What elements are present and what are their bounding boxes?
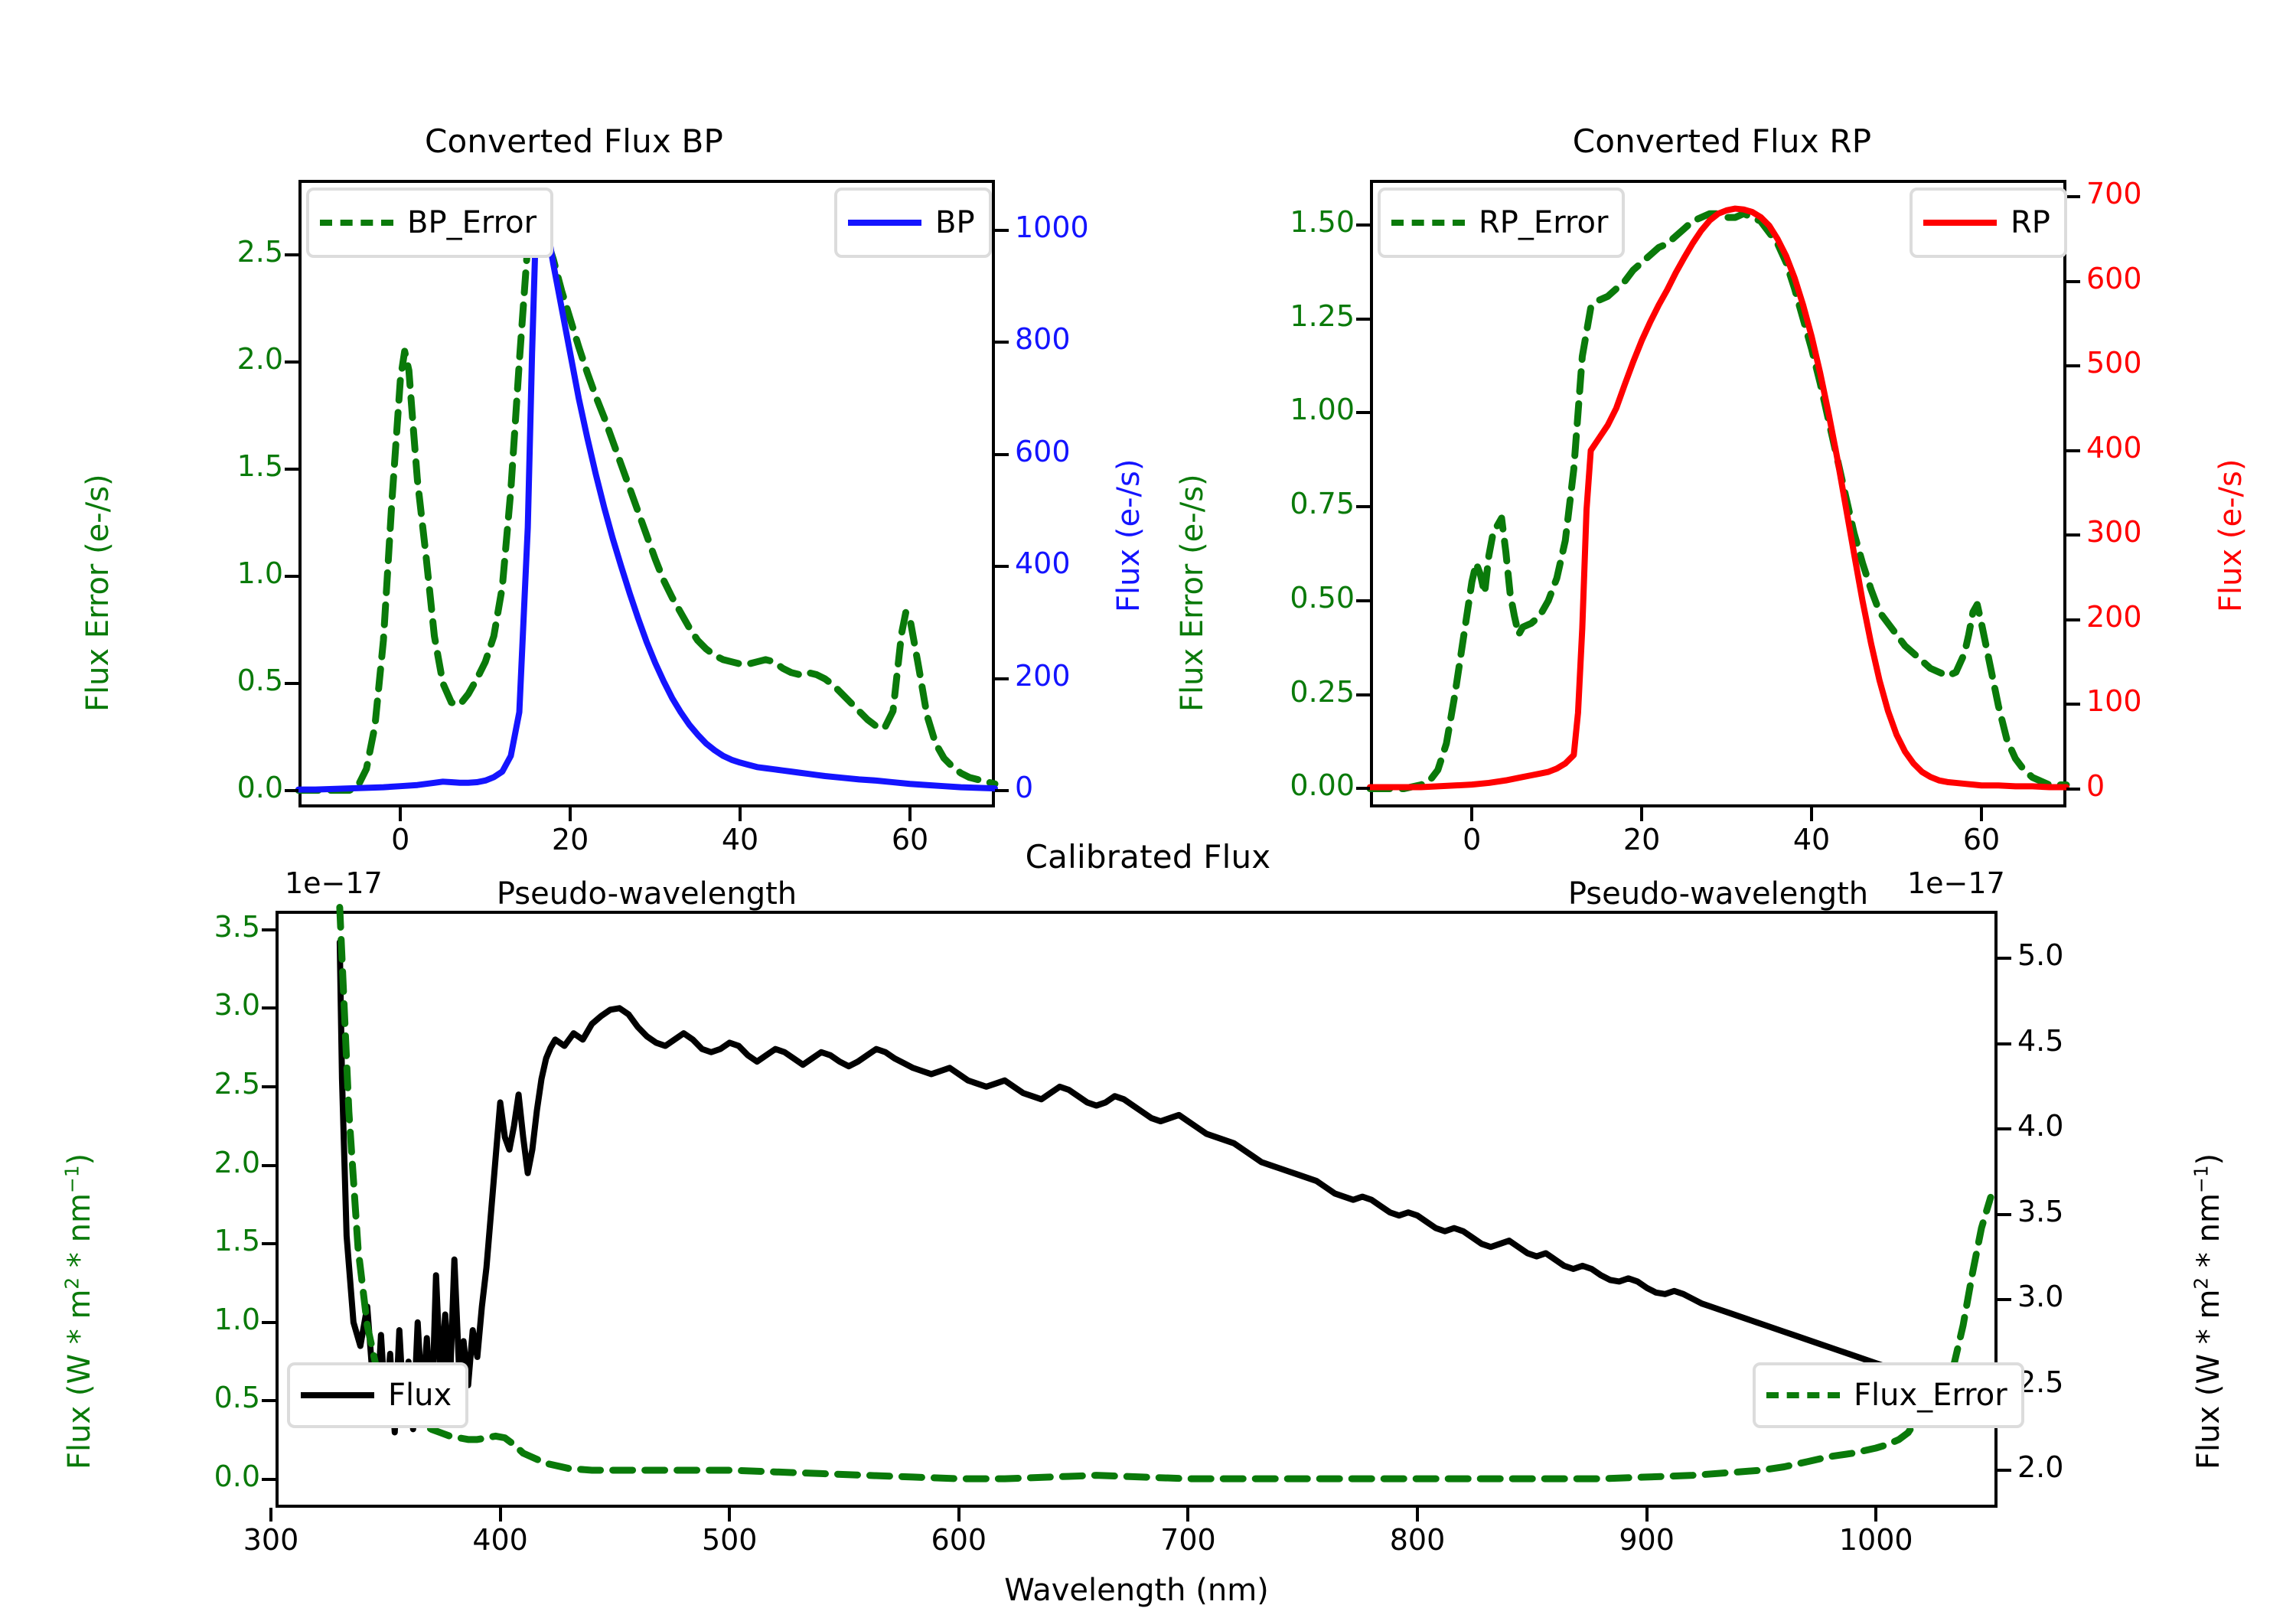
tick-mark (1416, 1508, 1419, 1522)
tick-label: 0.00 (1179, 768, 1355, 802)
tick-mark (262, 1242, 276, 1245)
tick-label: 4.0 (2017, 1109, 2201, 1143)
tick-mark (262, 928, 276, 931)
tick-mark (2066, 533, 2080, 537)
cal-flux-legend-label: Flux (388, 1378, 452, 1413)
cal-yaxis-left-label: Flux (W * m2 * nm−1) (61, 1153, 97, 1469)
tick-label: 0 (2086, 769, 2270, 803)
tick-label: 0.5 (84, 1381, 260, 1414)
cal-left-label-text: Flux (W * m2 * nm−1) (62, 1153, 97, 1469)
tick-mark (262, 1085, 276, 1088)
tick-mark (285, 682, 298, 685)
series-flux_error (340, 908, 1991, 1479)
tick-mark (1980, 807, 1983, 821)
tick-label: 1000 (1792, 1523, 1960, 1557)
cal-plot-lines (276, 911, 1998, 1508)
tick-mark (1998, 1213, 2011, 1216)
bp-yaxis-right-label: Flux (e-/s) (1111, 459, 1146, 612)
tick-mark (262, 1164, 276, 1167)
tick-mark (285, 789, 298, 792)
tick-mark (1874, 1508, 1877, 1522)
tick-mark (1356, 599, 1370, 602)
cal-left-offset-text: 1e−17 (285, 866, 383, 900)
tick-mark (1356, 318, 1370, 321)
tick-label: 1.5 (84, 1224, 260, 1257)
tick-label: 2.5 (2017, 1365, 2201, 1399)
tick-mark (1998, 1042, 2011, 1045)
tick-label: 600 (875, 1523, 1043, 1557)
tick-mark (1356, 223, 1370, 227)
tick-mark (2066, 280, 2080, 283)
tick-mark (1640, 807, 1643, 821)
cal-yaxis-right-label: Flux (W * m2 * nm−1) (2190, 1153, 2226, 1469)
cal-legend-flux[interactable]: Flux (287, 1362, 468, 1428)
tick-label: 700 (2086, 177, 2270, 210)
tick-label: 100 (2086, 684, 2270, 718)
tick-mark (739, 807, 742, 821)
tick-mark (262, 1399, 276, 1402)
tick-mark (1356, 505, 1370, 508)
tick-mark (1998, 957, 2011, 960)
tick-mark (908, 807, 912, 821)
cal-error-line-swatch (1766, 1392, 1840, 1398)
series-bp (298, 197, 995, 790)
tick-label: 300 (187, 1523, 355, 1557)
tick-mark (957, 1508, 960, 1522)
tick-mark (995, 453, 1009, 456)
tick-mark (995, 677, 1009, 680)
rp-error-legend-label: RP_Error (1479, 205, 1608, 240)
cal-flux-line-swatch (301, 1392, 374, 1398)
tick-label: 0.0 (107, 771, 283, 804)
tick-mark (399, 807, 402, 821)
panel-calibrated-flux: Calibrated Flux 1e−17 1e−17 0.00.51.01.5… (0, 834, 2296, 1607)
rp-error-line-swatch (1391, 220, 1465, 226)
tick-mark (995, 341, 1009, 344)
tick-mark (1998, 1127, 2011, 1130)
cal-right-label-text: Flux (W * m2 * nm−1) (2191, 1153, 2226, 1469)
cal-right-offset-text: 1e−17 (1907, 866, 2005, 900)
tick-label: 400 (416, 1523, 585, 1557)
panel-converted-flux-rp: Converted Flux RP 0.000.250.500.751.001.… (1148, 77, 2296, 842)
tick-label: 600 (2086, 262, 2270, 295)
rp-flux-legend-label: RP (2011, 205, 2050, 240)
bp-flux-line-swatch (848, 220, 921, 226)
cal-error-legend-label: Flux_Error (1854, 1378, 2007, 1413)
tick-label: 2.0 (84, 1146, 260, 1179)
tick-mark (269, 1508, 272, 1522)
tick-label: 5.0 (2017, 938, 2201, 972)
tick-mark (2066, 449, 2080, 452)
tick-label: 500 (645, 1523, 814, 1557)
tick-mark (285, 360, 298, 364)
figure-canvas: Converted Flux BP 0.00.51.01.52.02.5 020… (0, 0, 2296, 1607)
tick-label: 2.5 (84, 1067, 260, 1101)
tick-label: 1.50 (1179, 205, 1355, 239)
bp-error-legend-label: BP_Error (407, 205, 536, 240)
tick-mark (1645, 1508, 1649, 1522)
tick-mark (1998, 1469, 2011, 1472)
tick-label: 3.5 (84, 910, 260, 944)
tick-mark (569, 807, 572, 821)
cal-legend-error[interactable]: Flux_Error (1753, 1362, 2024, 1428)
tick-label: 700 (1104, 1523, 1272, 1557)
tick-mark (1998, 1298, 2011, 1301)
tick-mark (262, 1478, 276, 1481)
tick-label: 3.0 (84, 988, 260, 1022)
tick-mark (1810, 807, 1813, 821)
bp-panel-title: Converted Flux BP (0, 122, 1148, 160)
series-flux (340, 942, 1986, 1432)
tick-label: 2.5 (107, 235, 283, 269)
tick-mark (1356, 787, 1370, 790)
panel-converted-flux-bp: Converted Flux BP 0.00.51.01.52.02.5 020… (0, 77, 1148, 842)
tick-mark (995, 789, 1009, 792)
tick-label: 3.5 (2017, 1195, 2201, 1228)
tick-mark (2066, 788, 2080, 791)
tick-label: 2.0 (107, 342, 283, 376)
series-rp_error (1370, 214, 2066, 788)
bp-legend-flux[interactable]: BP (834, 188, 992, 258)
rp-plot-lines (1370, 180, 2066, 807)
tick-mark (2066, 618, 2080, 621)
rp-legend-error[interactable]: RP_Error (1378, 188, 1625, 258)
tick-label: 1.0 (84, 1303, 260, 1336)
tick-mark (1470, 807, 1473, 821)
tick-label: 0.0 (84, 1460, 260, 1493)
rp-yaxis-right-label: Flux (e-/s) (2213, 459, 2249, 612)
tick-label: 500 (2086, 346, 2270, 380)
cal-xaxis-label: Wavelength (nm) (276, 1573, 1998, 1608)
series-bp_error (298, 207, 995, 790)
tick-mark (728, 1508, 731, 1522)
bp-yaxis-left-label: Flux Error (e-/s) (80, 474, 116, 712)
rp-flux-line-swatch (1923, 220, 1997, 226)
bp-legend-error[interactable]: BP_Error (306, 188, 553, 258)
tick-label: 1.00 (1179, 393, 1355, 426)
tick-mark (285, 575, 298, 578)
rp-panel-title: Converted Flux RP (1148, 122, 2296, 160)
bp-flux-legend-label: BP (935, 205, 975, 240)
tick-mark (262, 1006, 276, 1009)
rp-yaxis-left-label: Flux Error (e-/s) (1175, 474, 1210, 712)
tick-mark (499, 1508, 502, 1522)
tick-label: 0.5 (107, 664, 283, 697)
tick-mark (2066, 195, 2080, 198)
bp-plot-lines (298, 180, 995, 807)
tick-label: 1.25 (1179, 299, 1355, 333)
tick-label: 800 (1333, 1523, 1502, 1557)
tick-mark (285, 253, 298, 256)
tick-label: 2.0 (2017, 1450, 2201, 1484)
bp-error-line-swatch (320, 220, 393, 226)
tick-mark (2066, 364, 2080, 367)
tick-mark (2066, 703, 2080, 706)
tick-mark (262, 1321, 276, 1324)
tick-mark (285, 468, 298, 471)
tick-label: 900 (1563, 1523, 1731, 1557)
tick-label: 1.0 (107, 556, 283, 590)
tick-label: 3.0 (2017, 1280, 2201, 1313)
tick-label: 1.5 (107, 449, 283, 483)
rp-legend-flux[interactable]: RP (1910, 188, 2067, 258)
tick-mark (1356, 693, 1370, 696)
series-rp (1370, 209, 2066, 788)
tick-mark (1186, 1508, 1189, 1522)
tick-mark (995, 565, 1009, 568)
tick-mark (995, 229, 1009, 232)
tick-label: 4.5 (2017, 1024, 2201, 1058)
tick-mark (1356, 411, 1370, 414)
